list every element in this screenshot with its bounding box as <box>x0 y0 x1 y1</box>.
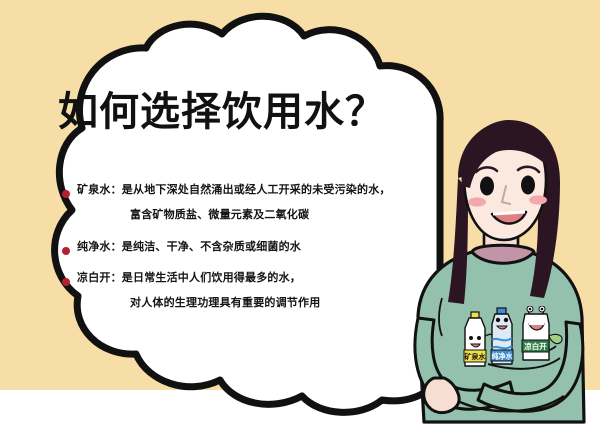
bottle-label-3: 凉白开 <box>524 341 547 351</box>
bullet-dot-icon <box>62 278 70 286</box>
purified-water-bottle: 纯净水 <box>491 308 513 364</box>
boiled-water-bottle: 凉白开 <box>522 306 562 360</box>
character-illustration <box>388 120 600 424</box>
bottle-label-2: 纯净水 <box>492 352 514 361</box>
page-title: 如何选择饮用水？ <box>58 92 386 132</box>
bottle-label-1: 矿泉水 <box>465 352 487 361</box>
bottle-group: 矿泉水 纯净水 <box>455 306 570 376</box>
bullet-dot-icon <box>62 190 70 198</box>
poster-root: 如何选择饮用水？ 矿泉水：是从地下深处自然涌出或经人工开采的未受污染的水， 富含… <box>0 0 600 424</box>
bullet-dot-icon <box>62 247 70 255</box>
